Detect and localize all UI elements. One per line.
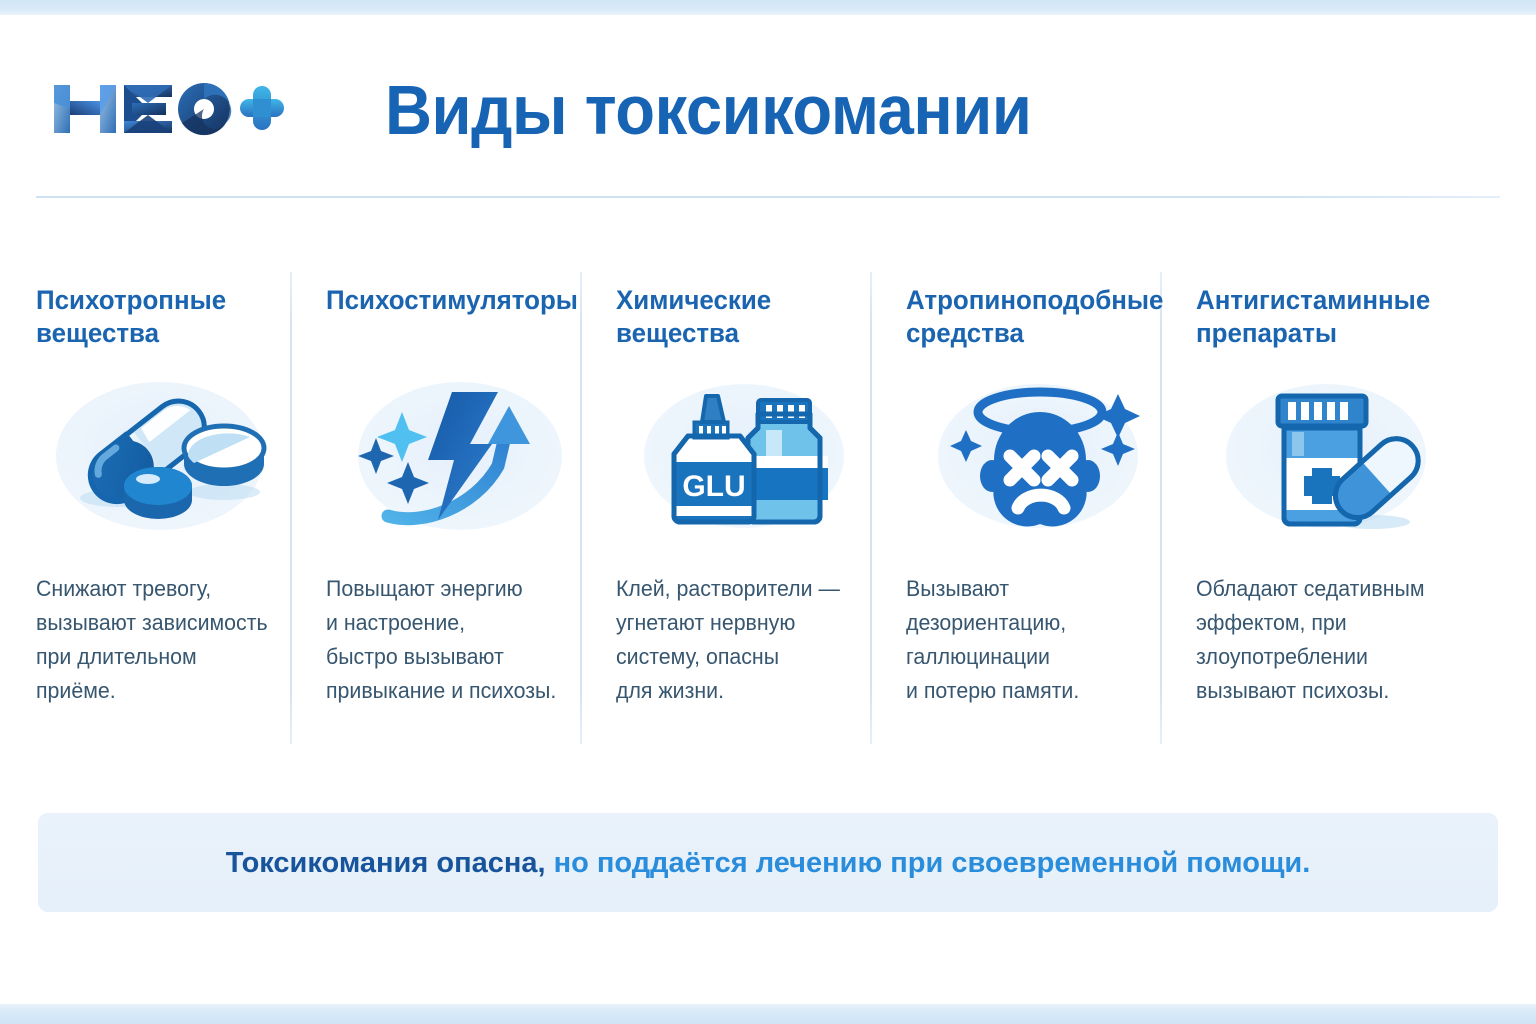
- header-divider: [36, 196, 1500, 198]
- pills-capsule-icon: [36, 370, 304, 542]
- top-accent-band: [0, 0, 1536, 15]
- header: Виды токсикомании: [0, 15, 1536, 190]
- neo-plus-logo: [44, 73, 284, 145]
- footer-message: Токсикомания опасна, но поддаётся лечени…: [38, 813, 1498, 912]
- glue-bottle-label: GLU: [682, 470, 745, 503]
- category-column-atropine: Атропиноподобные средства: [906, 272, 1174, 744]
- column-heading: Психостимуляторы: [326, 284, 583, 317]
- bottom-accent-band: [0, 1004, 1536, 1024]
- lightning-arrow-sparkle-icon: [326, 370, 594, 542]
- category-column-chemicals: Химические вещества: [616, 272, 884, 744]
- footer-rest: но поддаётся лечению при своевременной п…: [554, 845, 1311, 881]
- footer-emphasis: Токсикомания опасна,: [226, 845, 546, 881]
- medicine-bottle-capsule-icon: [1196, 370, 1464, 542]
- footer-banner: Токсикомания опасна, но поддаётся лечени…: [38, 813, 1498, 912]
- dizzy-face-icon: [906, 370, 1174, 542]
- category-columns: Психотропные вещества: [0, 272, 1536, 744]
- category-column-psychotropic: Психотропные вещества: [36, 272, 304, 744]
- column-heading: Атропиноподобные средства: [906, 284, 1163, 350]
- infographic-page: Виды токсикомании Психотропные вещества: [0, 0, 1536, 1024]
- glue-solvent-bottles-icon: GLU: [616, 370, 884, 542]
- page-title: Виды токсикомании: [385, 70, 1031, 150]
- category-column-antihistamines: Антигистаминные препараты: [1196, 272, 1464, 744]
- column-heading: Психотропные вещества: [36, 284, 293, 350]
- column-heading: Антигистаминные препараты: [1196, 284, 1453, 350]
- column-description: Повыщают энергию и настроение, быстро вы…: [326, 572, 580, 708]
- category-column-stimulants: Психостимуляторы: [326, 272, 594, 744]
- column-heading: Химические вещества: [616, 284, 873, 350]
- column-description: Вызывают дезориентацию, галлюцинации и п…: [906, 572, 1160, 708]
- column-description: Обладают седативным эффектом, при злоупо…: [1196, 572, 1450, 708]
- column-description: Клей, растворители — угнетают нервную си…: [616, 572, 870, 708]
- column-description: Снижают тревогу, вызывают зависимость пр…: [36, 572, 290, 708]
